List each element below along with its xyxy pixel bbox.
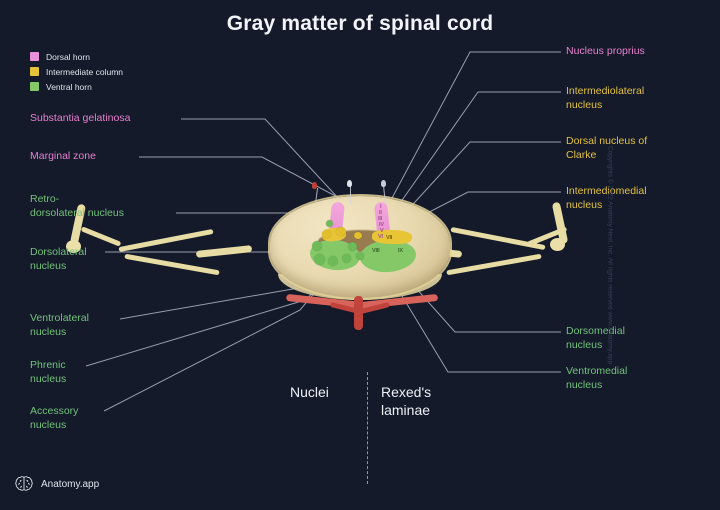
pin-head-white-2 [381,180,386,187]
lamina-label-VII: VII [386,235,392,241]
brain-icon [14,474,34,494]
nucleus-accessory [342,254,351,263]
copyright-notice: Copyrights © 2022 Anatomy Next, Inc. All… [606,146,613,364]
nucleus-intermediomedial [354,232,362,239]
nucleus-ventrolateral [314,254,325,265]
nucleus-intermediolateral-left [322,230,331,238]
caption-nuclei: Nuclei [290,383,329,401]
nerve-root-right-upper [450,227,545,250]
label-ventrolateral-nucleus: Ventrolateral nucleus [30,312,89,339]
nucleus-retro-dorsolateral [326,220,333,227]
label-marginal-zone: Marginal zone [30,150,96,164]
label-ventromedial-nucleus: Ventromedial nucleus [566,365,627,392]
legend-label-intermediate-column: Intermediate column [46,67,123,77]
legend-item-intermediate-column: Intermediate column [30,65,123,78]
legend-item-ventral-horn: Ventral horn [30,80,123,93]
label-phrenic-nucleus: Phrenic nucleus [30,359,66,386]
label-dorsolateral-nucleus: Dorsolateral nucleus [30,246,87,273]
legend-item-dorsal-horn: Dorsal horn [30,50,123,63]
nucleus-phrenic [328,256,338,266]
legend-label-dorsal-horn: Dorsal horn [46,52,90,62]
pin-head-white-1 [347,180,352,187]
nucleus-clarke-left [336,227,346,236]
lamina-label-IX: IX [398,248,403,254]
nucleus-dorsolateral [312,241,322,251]
nerve-root-left-trunk [81,226,122,246]
lamina-label-VIII: VIII [372,248,379,254]
lamina-label-VI: VI [378,234,383,240]
nerve-root-right-lower [446,254,541,276]
legend-swatch-intermediate-column [30,67,39,76]
section-divider [367,372,368,484]
nucleus-ventromedial [356,252,364,260]
nerve-root-left-mid [196,245,252,258]
label-accessory-nucleus: Accessory nucleus [30,405,78,432]
label-nucleus-proprius: Nucleus proprius [566,45,645,59]
legend-label-ventral-horn: Ventral horn [46,82,92,92]
caption-rexeds-laminae: Rexed's laminae [381,383,431,419]
label-substantia-gelatinosa: Substantia gelatinosa [30,112,130,126]
spinal-cord-specimen: I II III IV V VI VII VIII IX [256,186,464,354]
brand-name: Anatomy.app [41,479,99,490]
label-intermediolateral-nucleus: Intermediolateral nucleus [566,85,644,112]
label-dorsomedial-nucleus: Dorsomedial nucleus [566,325,625,352]
legend-swatch-dorsal-horn [30,52,39,61]
brand-logo: Anatomy.app [14,474,99,494]
ganglion-right [550,238,565,251]
legend-swatch-ventral-horn [30,82,39,91]
nucleus-dorsomedial [348,242,357,251]
diagram-canvas: Gray matter of spinal cord Dorsal horn I… [0,0,720,510]
nerve-root-left-upper [118,229,213,252]
label-retro-dorsolateral-nucleus: Retro- dorsolateral nucleus [30,193,124,220]
pin-head-red [312,182,317,189]
page-title: Gray matter of spinal cord [0,12,720,36]
legend: Dorsal horn Intermediate column Ventral … [30,50,123,95]
pin-stem-2 [350,186,351,204]
